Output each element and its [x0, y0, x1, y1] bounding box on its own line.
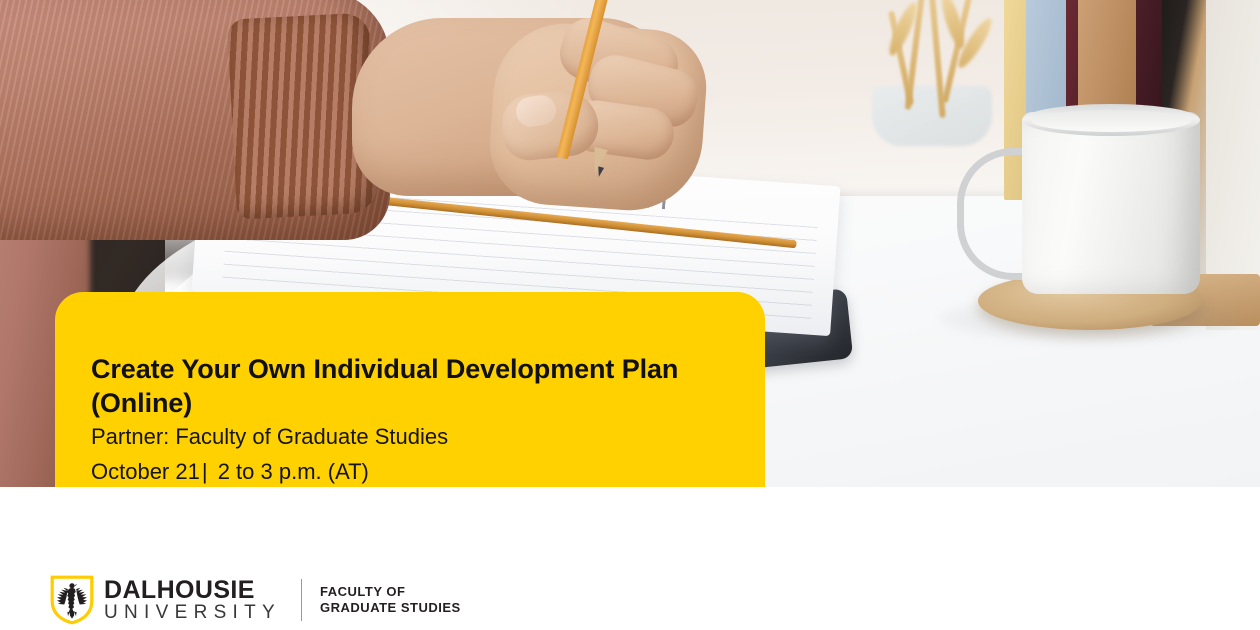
event-title-line1: Create Your Own Individual Development P…: [91, 354, 678, 384]
footer-bar: DALHOUSIE UNIVERSITY FACULTY OF GRADUATE…: [0, 487, 1260, 630]
logo-divider: [301, 579, 302, 621]
event-date: October 21: [91, 459, 200, 484]
event-partner: Partner: Faculty of Graduate Studies: [91, 423, 725, 452]
event-title: Create Your Own Individual Development P…: [91, 352, 711, 420]
dalhousie-logo-lockup[interactable]: DALHOUSIE UNIVERSITY FACULTY OF GRADUATE…: [50, 575, 461, 625]
faculty-line-2: GRADUATE STUDIES: [320, 600, 461, 616]
event-promo-graphic: Create Your Own Individual Development P…: [0, 0, 1260, 630]
dalhousie-shield-eagle-icon: [50, 575, 94, 625]
dalhousie-wordmark: DALHOUSIE UNIVERSITY: [104, 577, 281, 624]
faculty-line-1: FACULTY OF: [320, 584, 461, 600]
faculty-wordmark: FACULTY OF GRADUATE STUDIES: [320, 584, 461, 617]
event-title-line2: (Online): [91, 388, 192, 418]
event-time: 2 to 3 p.m. (AT): [218, 459, 369, 484]
glass-vase: [872, 86, 992, 146]
wordmark-dalhousie: DALHOUSIE: [104, 577, 281, 603]
wordmark-university: UNIVERSITY: [104, 603, 281, 624]
event-datetime: October 21| 2 to 3 p.m. (AT): [91, 458, 725, 487]
mug-interior: [1031, 110, 1191, 132]
datetime-separator: |: [200, 458, 212, 487]
ceramic-mug: [1022, 112, 1200, 294]
